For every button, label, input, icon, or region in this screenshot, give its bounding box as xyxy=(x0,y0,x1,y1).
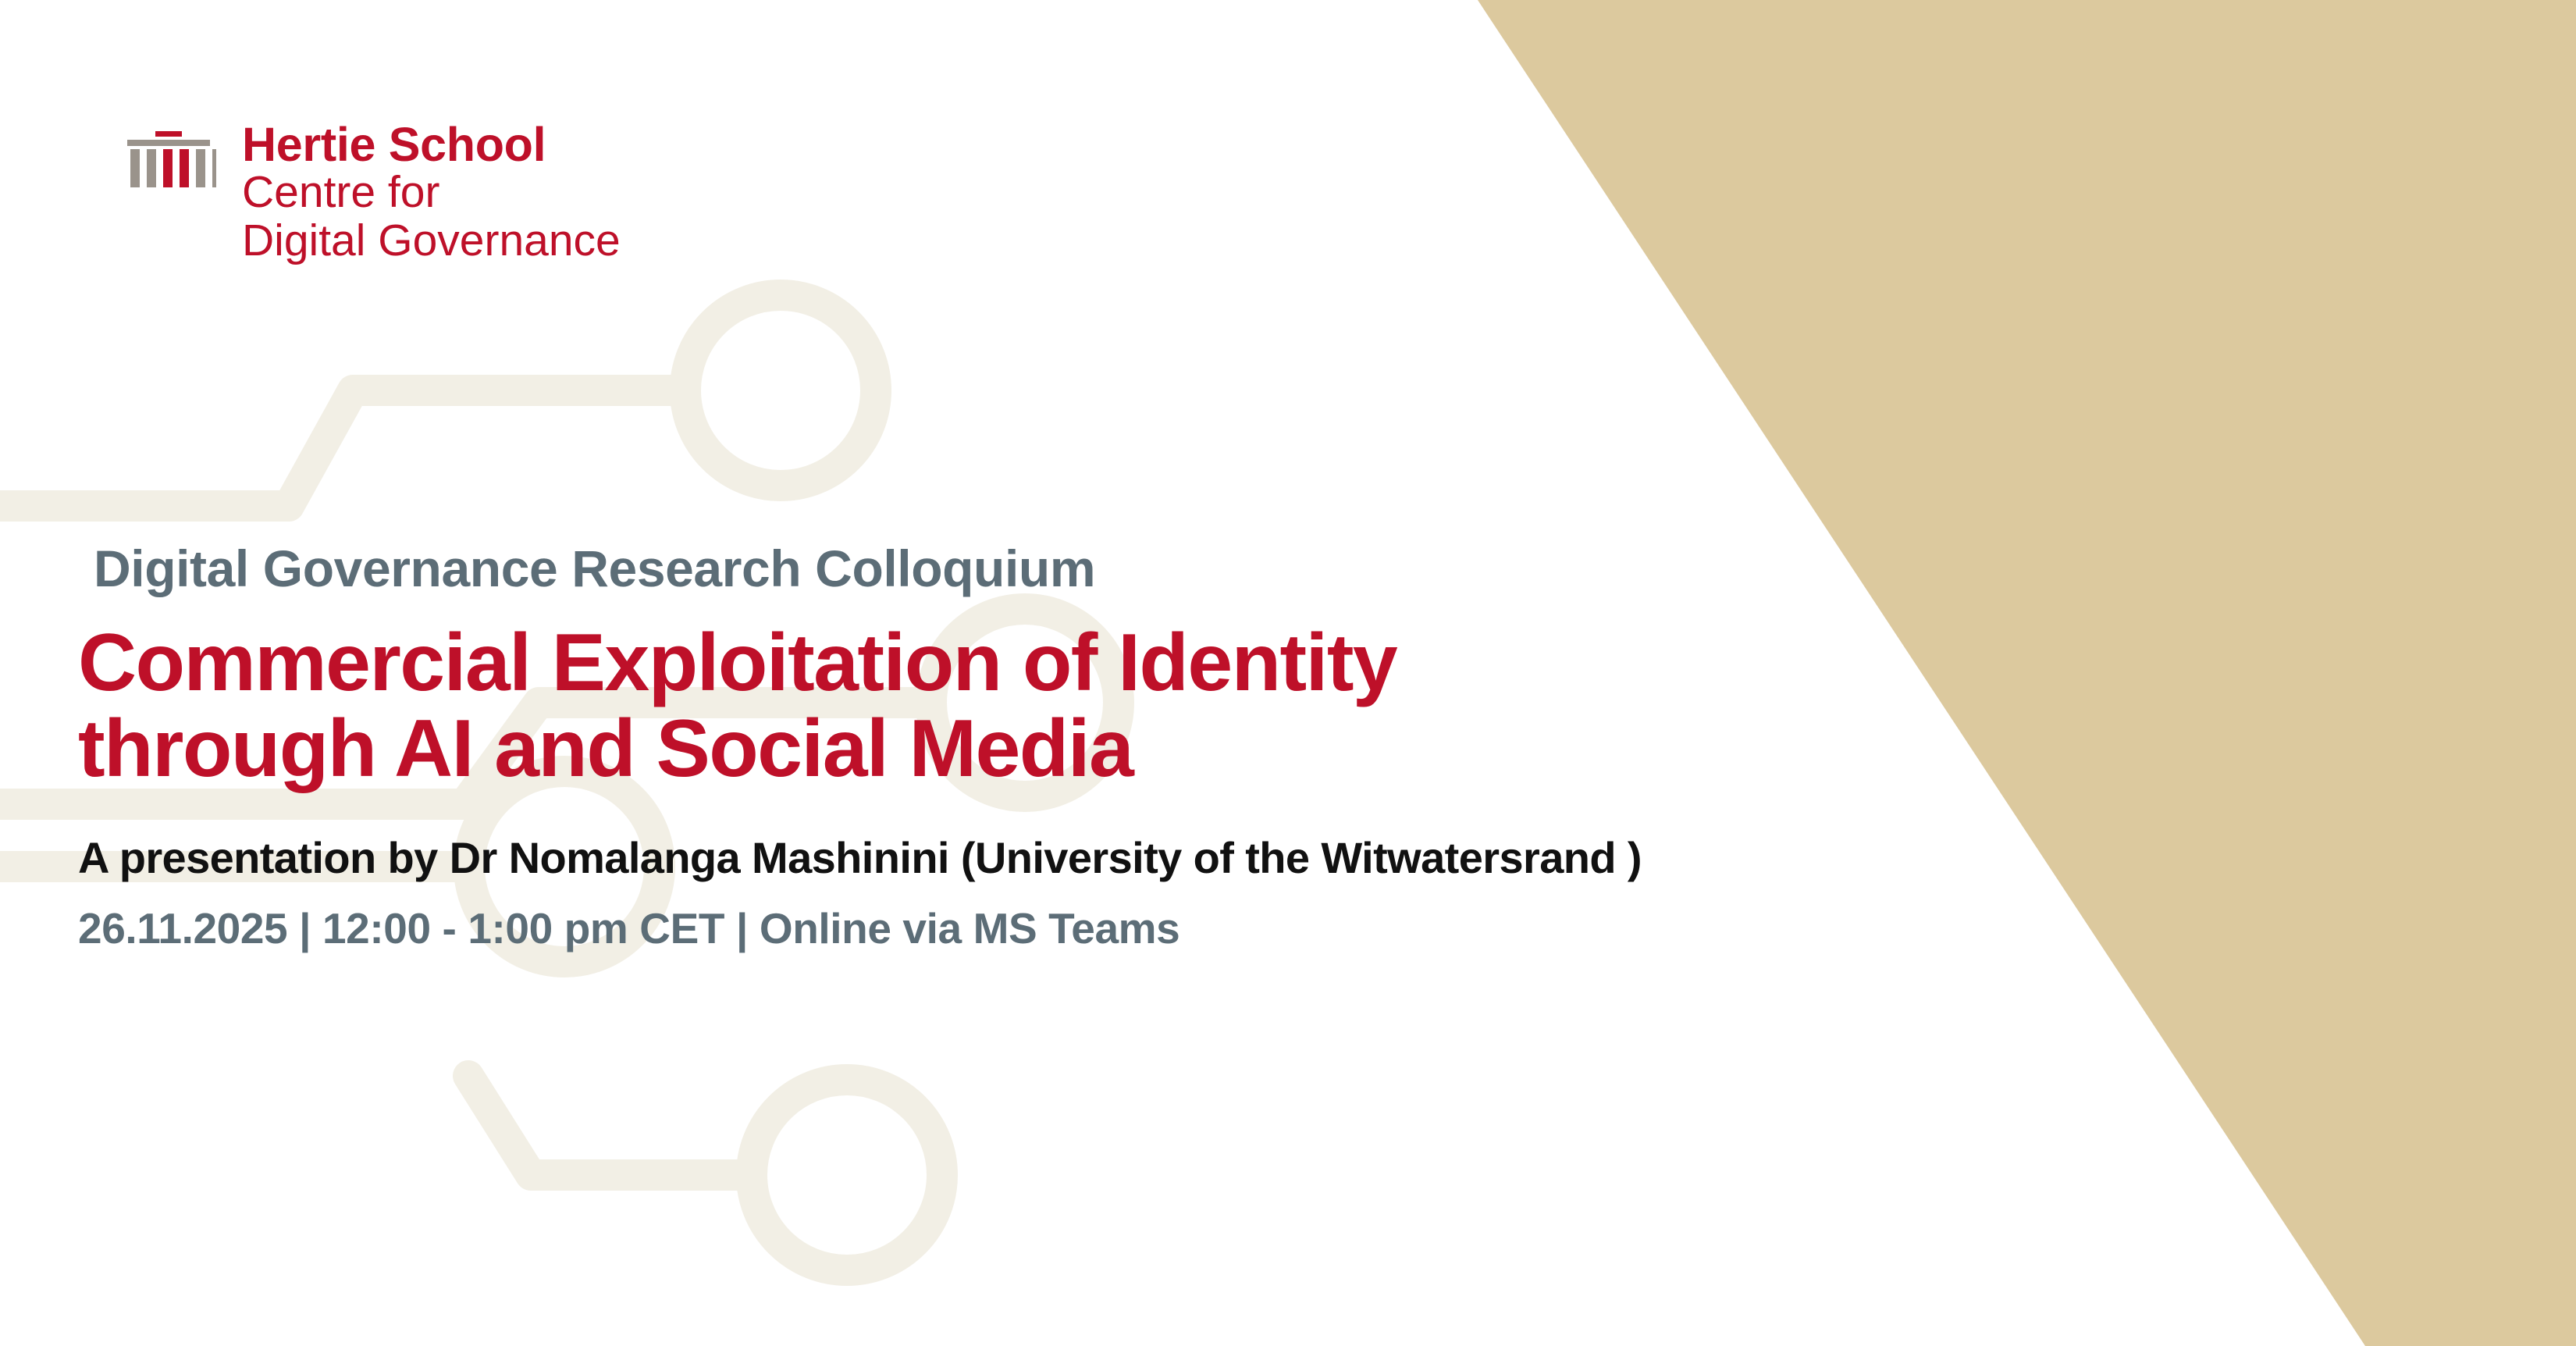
event-banner: Hertie School Centre for Digital Governa… xyxy=(0,0,2576,1346)
presenter-line: A presentation by Dr Nomalanga Mashinini… xyxy=(78,832,1991,883)
event-meta-line: 26.11.2025 | 12:00 - 1:00 pm CET | Onlin… xyxy=(78,903,1991,953)
event-title-line-1: Commercial Exploitation of Identity xyxy=(78,620,1991,706)
logo-unit-line-1: Centre for xyxy=(242,169,820,217)
event-title-line-2: through AI and Social Media xyxy=(78,706,1991,792)
event-title: Commercial Exploitation of Identity thro… xyxy=(78,620,1991,792)
brandenburg-gate-icon xyxy=(121,131,216,187)
logo-wordmark: Hertie School Centre for Digital Governa… xyxy=(242,120,820,265)
event-copy-block: Digital Governance Research Colloquium C… xyxy=(78,539,1991,953)
logo-institution-name: Hertie School xyxy=(242,120,820,169)
logo-unit-line-2: Digital Governance xyxy=(242,217,820,265)
colloquium-series-label: Digital Governance Research Colloquium xyxy=(94,539,1991,598)
